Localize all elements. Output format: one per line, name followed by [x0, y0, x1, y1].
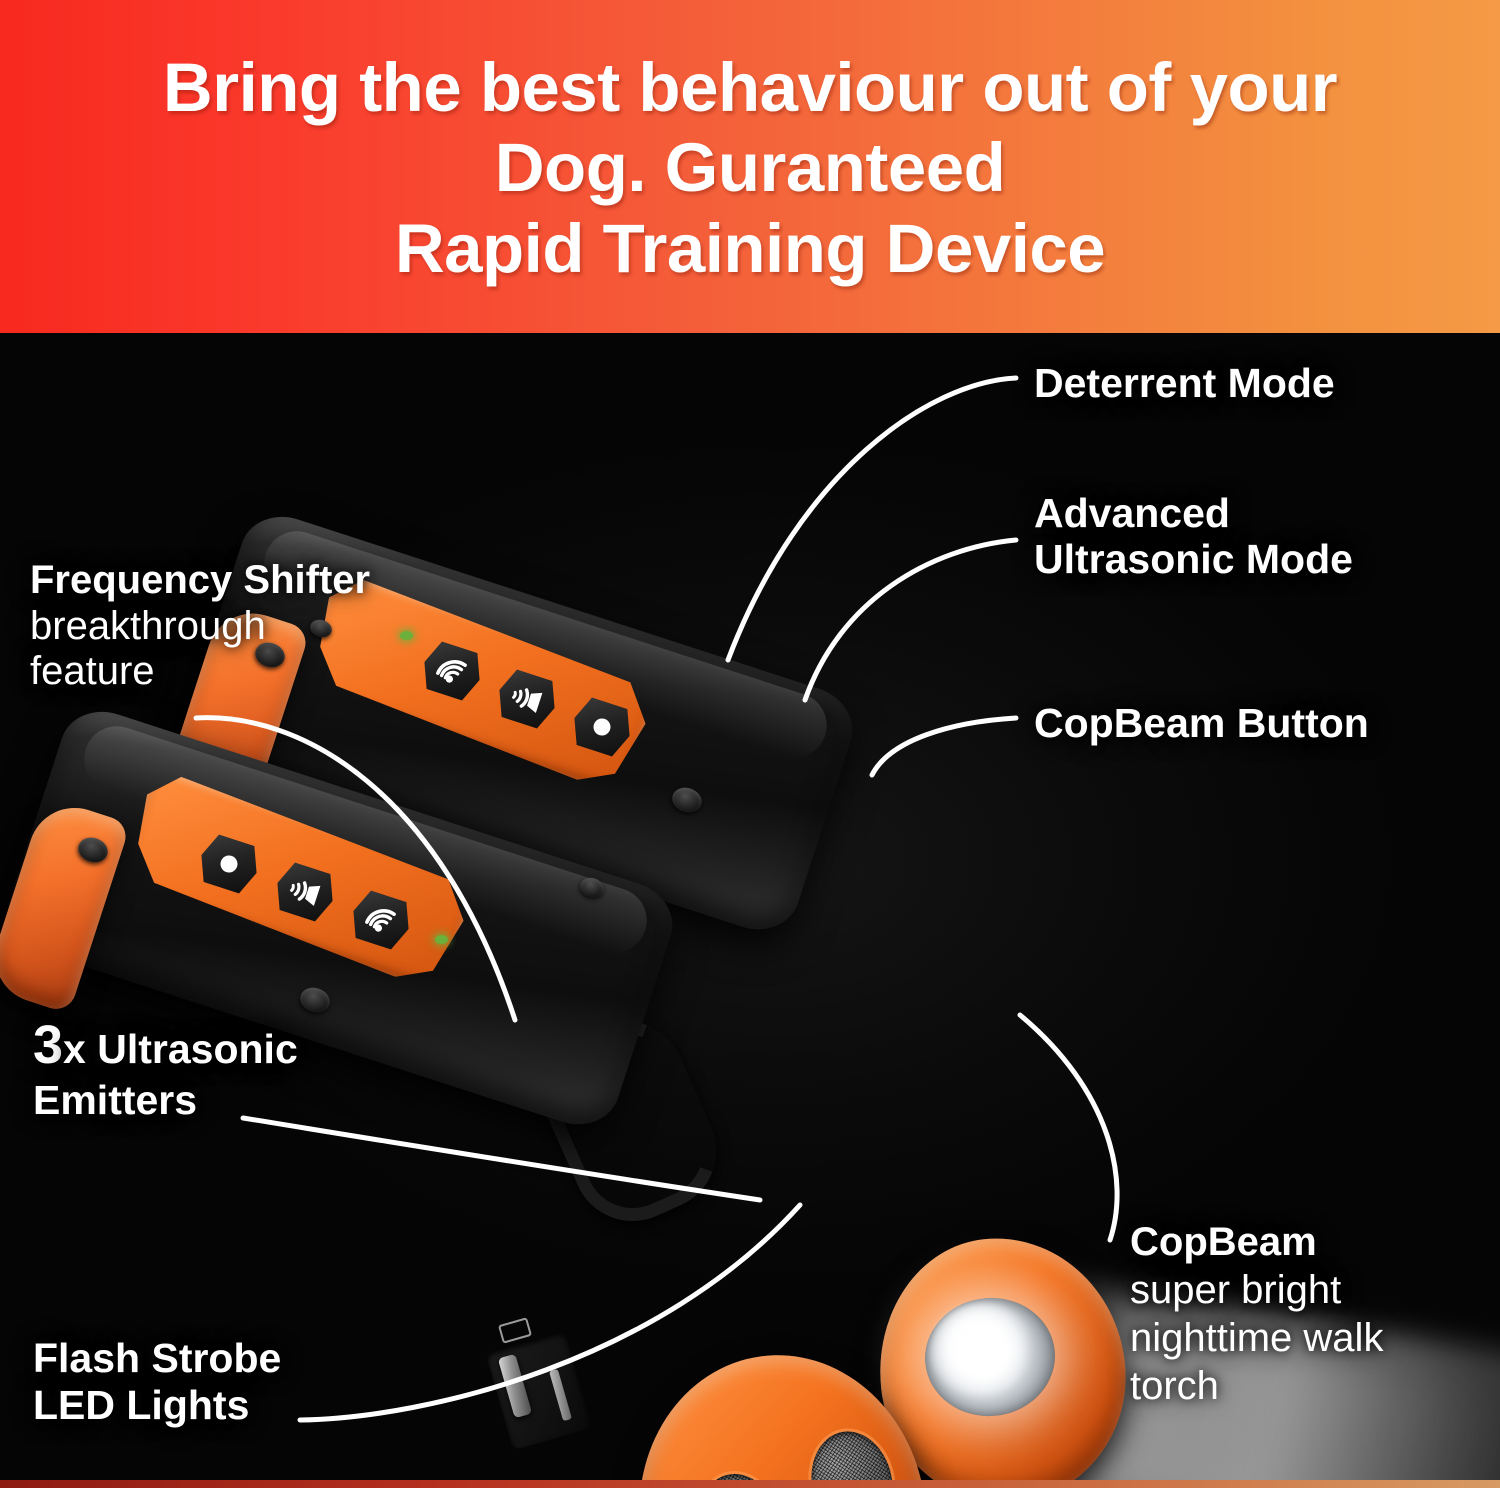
header-banner: Bring the best behaviour out of your Dog…	[0, 0, 1500, 333]
callout-strobe-line-2: LED Lights	[33, 1382, 281, 1429]
callout-copbeam-sub-2: nighttime walk	[1130, 1314, 1383, 1362]
battery-icon	[498, 1317, 532, 1344]
device-upper-status-led	[400, 631, 413, 640]
callout-copbeam-sub-3: torch	[1130, 1362, 1383, 1410]
callout-ultrasonic-line-2: Ultrasonic Mode	[1034, 536, 1353, 582]
headline-line-1: Bring the best behaviour out of your	[163, 53, 1337, 123]
callout-emitters-line-2: Emitters	[33, 1077, 298, 1124]
callout-copbeam-button: CopBeam Button	[1034, 700, 1369, 747]
callout-advanced-ultrasonic-mode: Advanced Ultrasonic Mode	[1034, 490, 1353, 583]
callout-copbeam-torch: CopBeam super bright nighttime walk torc…	[1130, 1218, 1383, 1410]
callout-deterrent-mode-label: Deterrent Mode	[1034, 360, 1335, 406]
headline-line-3: Rapid Training Device	[395, 214, 1105, 284]
copbeam-lens-glow	[930, 1303, 1035, 1398]
ultrasonic-waves-icon	[360, 900, 402, 939]
flashlight-dot-icon	[581, 707, 623, 746]
callout-ultrasonic-emitters: 3x Ultrasonic Emitters	[33, 1015, 298, 1123]
callout-copbeam-title: CopBeam	[1130, 1218, 1383, 1266]
infographic-page: Bring the best behaviour out of your Dog…	[0, 0, 1500, 1488]
callout-frequency-shifter-title: Frequency Shifter	[30, 558, 370, 604]
frequency-shifter-recess	[486, 1332, 592, 1451]
callout-copbeam-sub-1: super bright	[1130, 1266, 1383, 1314]
callout-frequency-shifter-sub-2: feature	[30, 649, 370, 695]
callout-frequency-shifter-sub-1: breakthrough	[30, 604, 370, 650]
headline-line-2: Dog. Guranteed	[495, 133, 1006, 203]
callout-ultrasonic-line-1: Advanced	[1034, 490, 1353, 536]
deterrent-dog-waves-icon	[284, 872, 326, 911]
callout-deterrent-mode: Deterrent Mode	[1034, 360, 1335, 407]
callout-strobe-line-1: Flash Strobe	[33, 1335, 281, 1382]
device-lower-status-led	[435, 935, 448, 944]
callout-copbeam-button-label: CopBeam Button	[1034, 700, 1369, 746]
callout-emitters-multiplier: x	[63, 1026, 86, 1072]
bottom-accent-strip	[0, 1480, 1500, 1488]
ultrasonic-waves-icon	[431, 651, 473, 690]
flashlight-dot-icon	[208, 844, 250, 883]
callout-frequency-shifter: Frequency Shifter breakthrough feature	[30, 558, 370, 695]
deterrent-dog-waves-icon	[506, 679, 548, 718]
callout-emitters-word: Ultrasonic	[86, 1026, 298, 1072]
callout-flash-strobe-led: Flash Strobe LED Lights	[33, 1335, 281, 1428]
callout-emitters-count: 3	[33, 1015, 63, 1075]
